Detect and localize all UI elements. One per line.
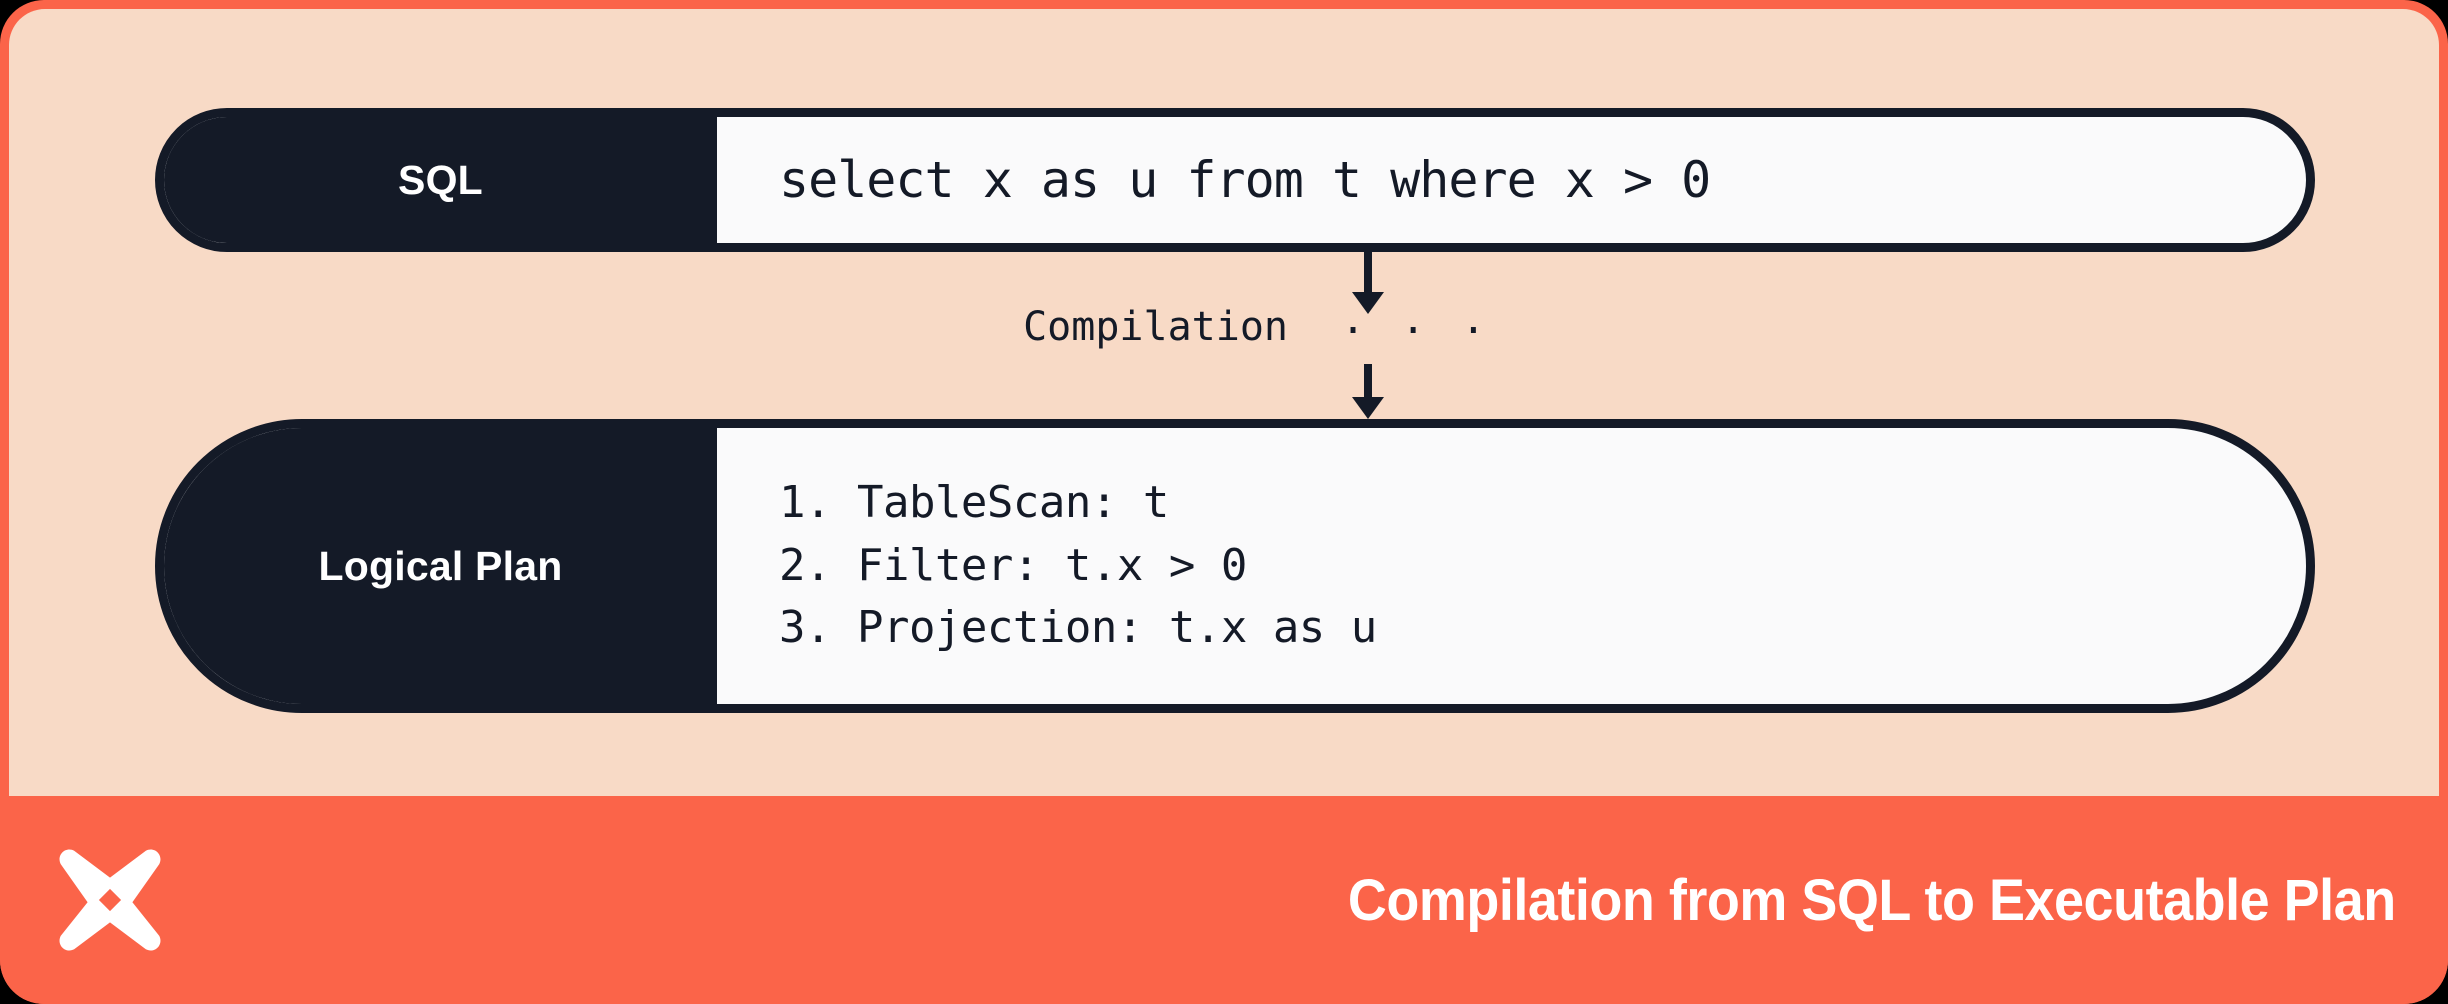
arrow-down-icon-top — [1364, 252, 1372, 294]
arrow-down-icon-bottom — [1364, 364, 1372, 399]
ellipsis-icon: · · · — [1341, 308, 1491, 354]
footer-title: Compilation from SQL to Executable Plan — [1348, 867, 2396, 934]
slide-card: SQL select x as u from t where x > 0 Com… — [0, 0, 2448, 1004]
diagram-panel: SQL select x as u from t where x > 0 Com… — [9, 9, 2439, 796]
plan-step-1: 1. TableScan: t — [779, 472, 2276, 534]
sql-statement: select x as u from t where x > 0 — [779, 151, 2276, 209]
compilation-label: Compilation — [808, 304, 1288, 350]
logical-plan-row-label: Logical Plan — [155, 419, 717, 713]
four-pointed-star-logo-icon — [54, 844, 166, 956]
logical-plan-row: Logical Plan 1. TableScan: t 2. Filter: … — [155, 419, 2315, 713]
sql-row: SQL select x as u from t where x > 0 — [155, 108, 2315, 252]
sql-row-label: SQL — [155, 108, 717, 252]
compilation-transition: Compilation · · · — [155, 252, 2315, 419]
sql-row-body: select x as u from t where x > 0 — [717, 117, 2306, 243]
footer-bar: Compilation from SQL to Executable Plan — [0, 796, 2448, 1004]
plan-step-3: 3. Projection: t.x as u — [779, 597, 2276, 659]
logical-plan-row-body: 1. TableScan: t 2. Filter: t.x > 0 3. Pr… — [717, 428, 2306, 704]
plan-step-2: 2. Filter: t.x > 0 — [779, 535, 2276, 597]
